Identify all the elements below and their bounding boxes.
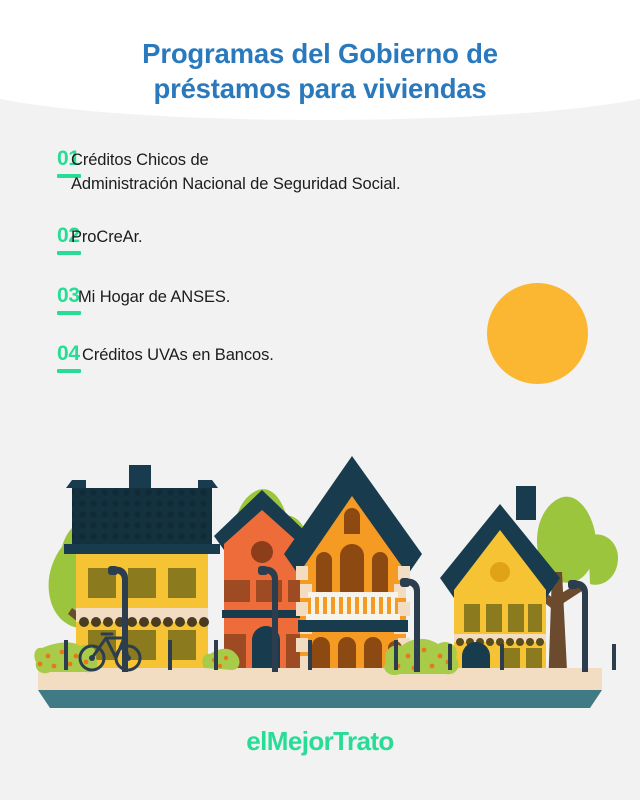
list-item-number: 04 [57, 343, 80, 364]
list-item: 01 Créditos Chicos de Administración Nac… [0, 148, 640, 197]
list-item-text-line-1: Mi Hogar de ANSES. [78, 285, 230, 309]
list-item-text-line-1: Créditos UVAs en Bancos. [82, 343, 274, 367]
page-title-line-2: préstamos para viviendas [0, 71, 640, 106]
page-title: Programas del Gobierno de préstamos para… [0, 36, 640, 107]
list-item-number-wrap: 04 [0, 343, 66, 373]
house-2-orange-red [214, 490, 310, 668]
page-title-line-1: Programas del Gobierno de [0, 36, 640, 71]
list-item-text: ProCreAr. [71, 225, 143, 249]
list-item-number: 03 [57, 285, 80, 306]
house-1-roof [72, 488, 212, 550]
list-item-text-line-1: Créditos Chicos de [71, 148, 400, 172]
list-item-number-wrap: 03 [0, 285, 66, 315]
house-4-chimney [516, 486, 536, 520]
neighborhood-houses-illustration [0, 432, 640, 722]
house-2-attic-window [251, 541, 273, 563]
list-item-text-line-2: Administración Nacional de Seguridad Soc… [71, 172, 400, 196]
list-item-number-underline [57, 369, 81, 373]
list-item: 04 Créditos UVAs en Bancos. [0, 343, 640, 373]
list-item-number-underline [57, 311, 81, 315]
list-item-text-line-1: ProCreAr. [71, 225, 143, 249]
house-1-yellow-mansard [64, 465, 220, 668]
list-item-text: Créditos UVAs en Bancos. [82, 343, 274, 367]
list-item-text: Créditos Chicos de Administración Nacion… [71, 148, 400, 197]
house-3-orange-balcony [284, 456, 422, 668]
infographic-root: Programas del Gobierno de préstamos para… [0, 0, 640, 800]
list-item: 03 Mi Hogar de ANSES. [0, 285, 640, 315]
ground-base [38, 690, 602, 708]
list-item: 02 ProCreAr. [0, 225, 640, 255]
list-item-number-wrap: 02 [0, 225, 66, 255]
list-item-number-wrap: 01 [0, 148, 66, 178]
list-item-number-underline [57, 251, 81, 255]
brand-logo: elMejorTrato [0, 726, 640, 757]
house-4-yellow-gable [440, 486, 560, 668]
house-3-balcony-band [298, 620, 408, 632]
programs-list: 01 Créditos Chicos de Administración Nac… [0, 140, 640, 373]
list-item-text: Mi Hogar de ANSES. [78, 285, 230, 309]
house-4-attic-window [490, 562, 510, 582]
